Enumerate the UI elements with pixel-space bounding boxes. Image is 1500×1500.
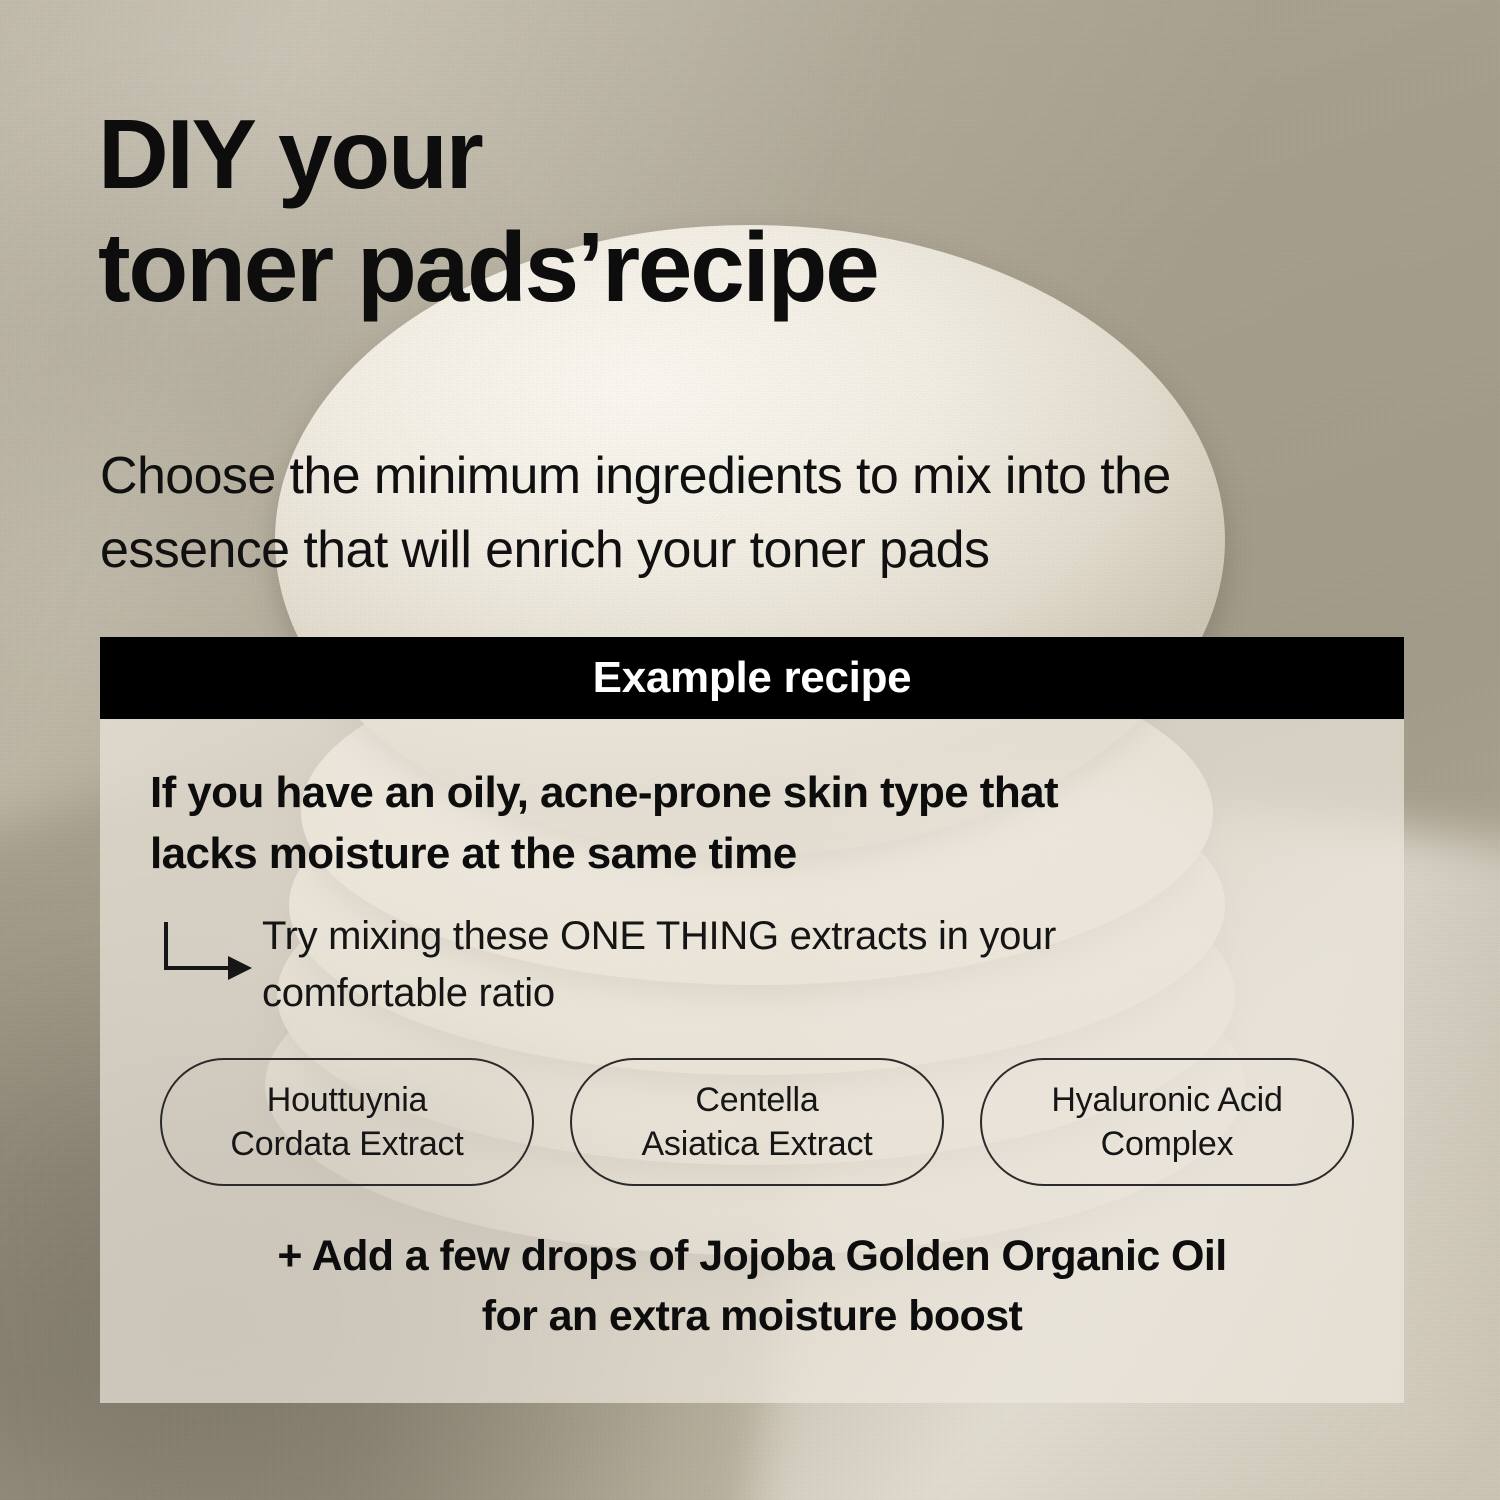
promo-graphic: DIY your toner pads’recipe Choose the mi…: [0, 0, 1500, 1500]
ingredient-pill-row: Houttuynia Cordata Extract Centella Asia…: [150, 1058, 1354, 1186]
example-recipe-header-label: Example recipe: [593, 653, 912, 703]
ingredient-pill-hyaluronic-acid-complex[interactable]: Hyaluronic Acid Complex: [980, 1058, 1354, 1186]
example-recipe-header: Example recipe: [100, 637, 1404, 719]
skin-type-condition-text: If you have an oily, acne-prone skin typ…: [150, 763, 1354, 884]
page-title: DIY your toner pads’recipe: [98, 98, 1428, 323]
ingredient-pill-houttuynia-cordata-extract[interactable]: Houttuynia Cordata Extract: [160, 1058, 534, 1186]
example-recipe-body: If you have an oily, acne-prone skin typ…: [100, 719, 1404, 1403]
page-subtitle: Choose the minimum ingredients to mix in…: [100, 440, 1440, 588]
ingredient-pill-centella-asiatica-extract[interactable]: Centella Asiatica Extract: [570, 1058, 944, 1186]
recommendation-text: Try mixing these ONE THING extracts in y…: [262, 908, 1056, 1022]
jojoba-oil-footnote: + Add a few drops of Jojoba Golden Organ…: [150, 1226, 1354, 1346]
example-recipe-card: Example recipe If you have an oily, acne…: [100, 637, 1404, 1403]
elbow-arrow-right-icon: [158, 916, 256, 992]
recommendation-row: Try mixing these ONE THING extracts in y…: [150, 910, 1354, 1022]
